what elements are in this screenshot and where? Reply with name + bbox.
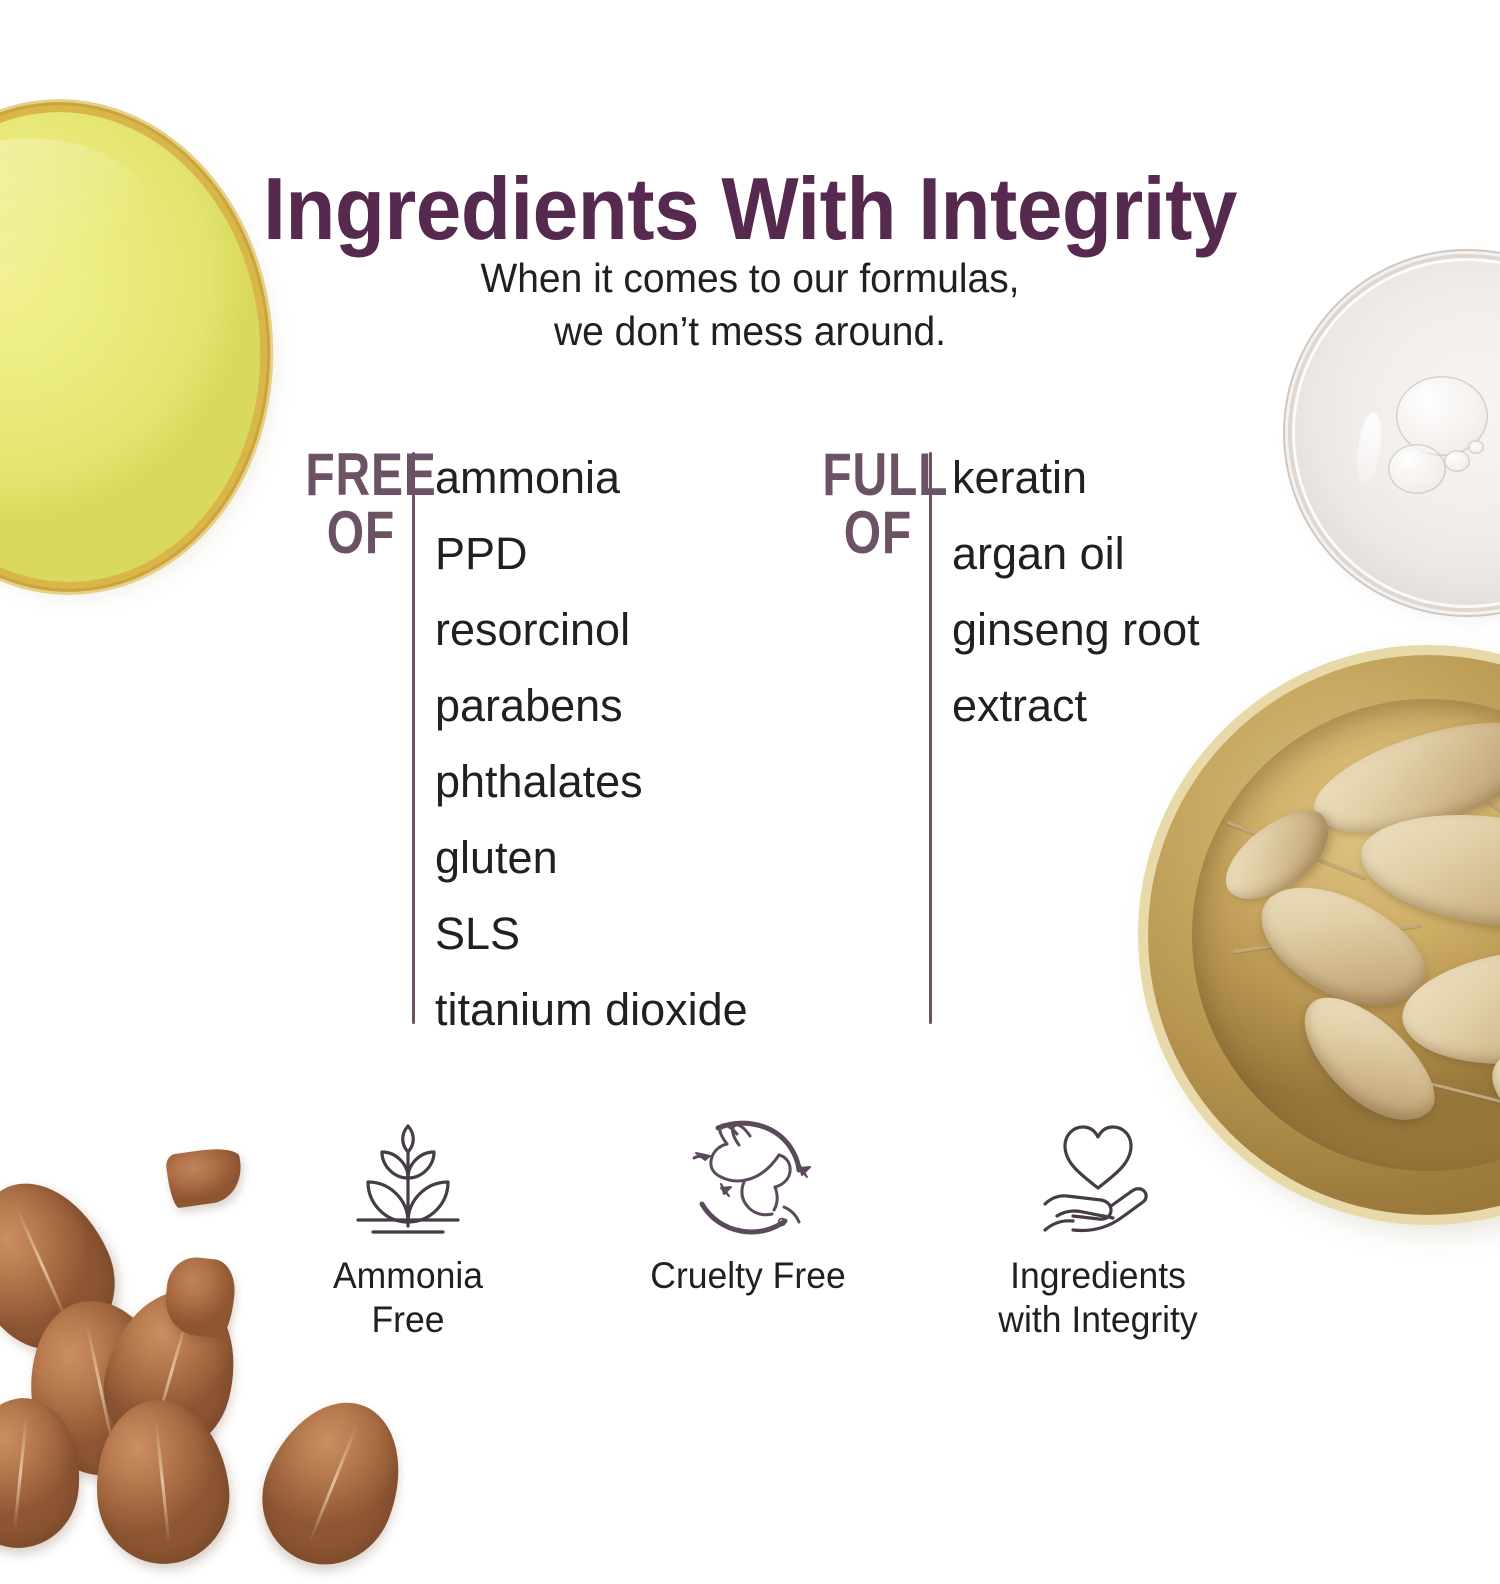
full-of-label-line-2: OF	[822, 504, 912, 562]
free-of-label-line-1: FREE	[305, 441, 436, 508]
badge-caption-line-1: Ammonia	[264, 1254, 552, 1298]
free-of-divider	[412, 452, 415, 1024]
full-of-label: FULL OF	[822, 446, 912, 561]
badge-caption-line-1: Ingredients	[954, 1254, 1242, 1298]
badge-caption: Cruelty Free	[604, 1254, 892, 1298]
list-item: keratin	[952, 440, 1200, 516]
subtitle-line-2: we don’t mess around.	[38, 305, 1463, 358]
ginseng-root	[1478, 1029, 1500, 1170]
leaping-bunny-icon	[598, 1108, 898, 1248]
subtitle: When it comes to our formulas, we don’t …	[38, 252, 1463, 359]
full-of-divider	[929, 452, 932, 1024]
free-of-list: ammonia PPD resorcinol parabens phthalat…	[435, 440, 748, 1048]
badge-caption: Ingredients with Integrity	[954, 1254, 1242, 1341]
badge-ingredients-with-integrity: Ingredients with Integrity	[948, 1108, 1248, 1341]
argan-shell-shard	[165, 1145, 246, 1209]
badge-row: Ammonia Free	[258, 1108, 1278, 1358]
page-title: Ingredients With Integrity	[53, 163, 1448, 255]
free-of-label-line-2: OF	[305, 504, 395, 562]
argan-nut	[242, 1382, 425, 1584]
badge-caption-line-2: Free	[264, 1298, 552, 1342]
badge-caption: Ammonia Free	[264, 1254, 552, 1341]
poster-canvas: Ingredients With Integrity When it comes…	[0, 0, 1500, 1500]
full-of-list: keratin argan oil ginseng root extract	[952, 440, 1200, 744]
list-item: PPD	[435, 516, 748, 592]
list-item: ginseng root	[952, 592, 1200, 668]
list-item: titanium dioxide	[435, 972, 748, 1048]
badge-caption-line-2: with Integrity	[954, 1298, 1242, 1342]
list-item: extract	[952, 668, 1200, 744]
list-item: ammonia	[435, 440, 748, 516]
list-item: gluten	[435, 820, 748, 896]
list-item: parabens	[435, 668, 748, 744]
subtitle-line-1: When it comes to our formulas,	[38, 252, 1463, 305]
list-item: resorcinol	[435, 592, 748, 668]
list-item: argan oil	[952, 516, 1200, 592]
ginseng-rootlet	[1315, 1054, 1500, 1108]
heart-in-hand-icon	[948, 1108, 1248, 1248]
plant-sprout-icon	[258, 1108, 558, 1248]
list-item: phthalates	[435, 744, 748, 820]
list-item: SLS	[435, 896, 748, 972]
badge-caption-line-1: Cruelty Free	[604, 1254, 892, 1298]
free-of-label: FREE OF	[305, 446, 395, 561]
badge-ammonia-free: Ammonia Free	[258, 1108, 558, 1341]
badge-cruelty-free: Cruelty Free	[598, 1108, 898, 1298]
ingredient-columns: FREE OF ammonia PPD resorcinol parabens …	[0, 440, 1500, 1040]
